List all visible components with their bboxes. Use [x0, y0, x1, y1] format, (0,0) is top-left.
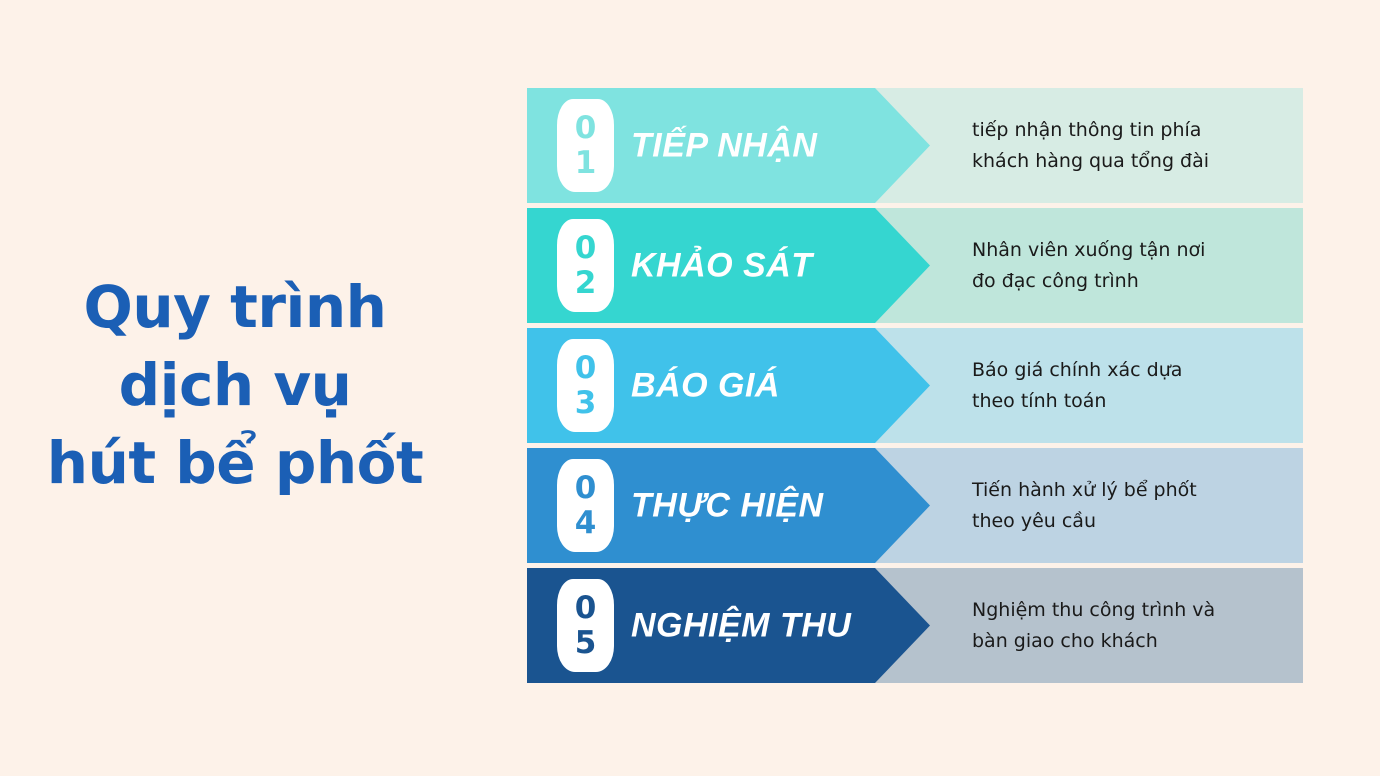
- step-description-line-1: Báo giá chính xác dựa: [972, 355, 1292, 386]
- step-arrow-banner: 0 5 NGHIỆM THU: [527, 568, 930, 683]
- step-label: KHẢO SÁT: [631, 246, 813, 285]
- step-arrow-banner: 0 1 TIẾP NHẬN: [527, 88, 930, 203]
- process-steps-list: 0 1 TIẾP NHẬN tiếp nhận thông tin phía k…: [527, 88, 1303, 690]
- step-number-digit-bottom: 4: [575, 506, 597, 541]
- step-label: BÁO GIÁ: [631, 366, 780, 405]
- process-step-row[interactable]: 0 5 NGHIỆM THU Nghiệm thu công trình và …: [527, 568, 1303, 683]
- step-number-badge: 0 2: [557, 219, 614, 312]
- step-number-digit-bottom: 2: [575, 266, 597, 301]
- step-number-badge: 0 1: [557, 99, 614, 192]
- step-description-line-2: bàn giao cho khách: [972, 626, 1292, 657]
- title-line-1: Quy trình: [0, 268, 470, 346]
- step-description-line-1: Nhân viên xuống tận nơi: [972, 235, 1292, 266]
- step-description-line-2: theo tính toán: [972, 386, 1292, 417]
- step-description: Tiến hành xử lý bể phốt theo yêu cầu: [972, 475, 1292, 537]
- process-step-row[interactable]: 0 2 KHẢO SÁT Nhân viên xuống tận nơi đo …: [527, 208, 1303, 323]
- step-label: NGHIỆM THU: [631, 606, 851, 645]
- step-label: TIẾP NHẬN: [631, 126, 817, 165]
- step-number-digit-top: 0: [575, 351, 597, 386]
- step-number-badge: 0 4: [557, 459, 614, 552]
- step-description: Báo giá chính xác dựa theo tính toán: [972, 355, 1292, 417]
- step-number-badge: 0 5: [557, 579, 614, 672]
- step-description: tiếp nhận thông tin phía khách hàng qua …: [972, 115, 1292, 177]
- step-arrow-banner: 0 3 BÁO GIÁ: [527, 328, 930, 443]
- step-number-digit-top: 0: [575, 111, 597, 146]
- step-arrow-banner: 0 4 THỰC HIỆN: [527, 448, 930, 563]
- title-line-2: dịch vụ: [0, 346, 470, 424]
- step-number-digit-top: 0: [575, 471, 597, 506]
- step-description: Nhân viên xuống tận nơi đo đạc công trìn…: [972, 235, 1292, 297]
- process-step-row[interactable]: 0 3 BÁO GIÁ Báo giá chính xác dựa theo t…: [527, 328, 1303, 443]
- step-description: Nghiệm thu công trình và bàn giao cho kh…: [972, 595, 1292, 657]
- step-number-digit-bottom: 5: [575, 626, 597, 661]
- step-description-line-2: đo đạc công trình: [972, 266, 1292, 297]
- title-line-3: hút bể phốt: [0, 424, 470, 502]
- step-description-line-2: khách hàng qua tổng đài: [972, 146, 1292, 177]
- step-description-line-1: tiếp nhận thông tin phía: [972, 115, 1292, 146]
- process-step-row[interactable]: 0 4 THỰC HIỆN Tiến hành xử lý bể phốt th…: [527, 448, 1303, 563]
- step-number-digit-bottom: 3: [575, 386, 597, 421]
- step-number-digit-bottom: 1: [575, 146, 597, 181]
- step-number-digit-top: 0: [575, 231, 597, 266]
- step-description-line-1: Nghiệm thu công trình và: [972, 595, 1292, 626]
- step-arrow-banner: 0 2 KHẢO SÁT: [527, 208, 930, 323]
- step-label: THỰC HIỆN: [631, 486, 824, 525]
- step-number-badge: 0 3: [557, 339, 614, 432]
- page-title: Quy trình dịch vụ hút bể phốt: [0, 268, 470, 502]
- step-description-line-2: theo yêu cầu: [972, 506, 1292, 537]
- infographic-canvas: Quy trình dịch vụ hút bể phốt 0 1 TIẾP N…: [0, 0, 1380, 776]
- step-description-line-1: Tiến hành xử lý bể phốt: [972, 475, 1292, 506]
- step-number-digit-top: 0: [575, 591, 597, 626]
- process-step-row[interactable]: 0 1 TIẾP NHẬN tiếp nhận thông tin phía k…: [527, 88, 1303, 203]
